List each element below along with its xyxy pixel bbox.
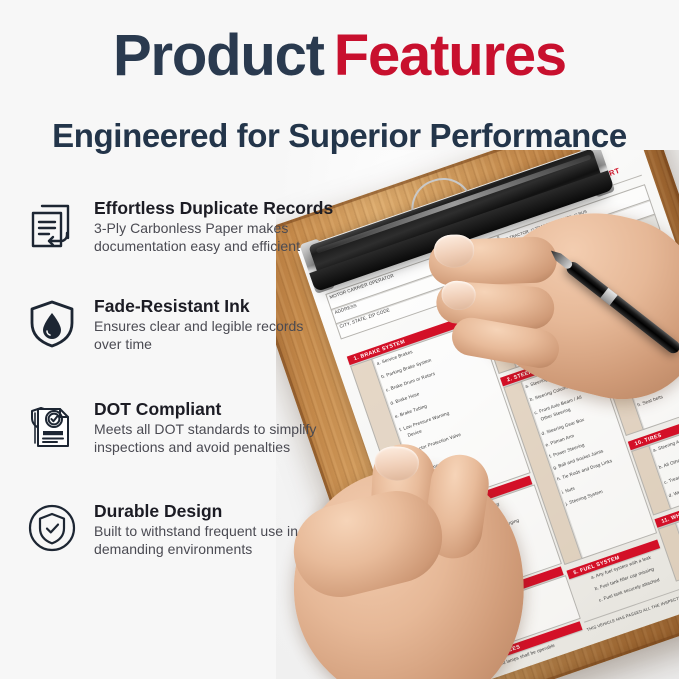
duplicate-documents-icon xyxy=(24,197,80,253)
feature-item-durable-design: Durable Design Built to withstand freque… xyxy=(24,500,326,558)
feature-body: 3-Ply Carbonless Paper makes documentati… xyxy=(94,220,326,256)
product-photo: BUCK U.S ANNUAL VEHICLE INSPECTION REPOR… xyxy=(276,150,679,679)
title-word-features: Features xyxy=(334,23,566,88)
feature-item-duplicate-records: Effortless Duplicate Records 3-Ply Carbo… xyxy=(24,197,333,255)
shield-check-circle-icon xyxy=(24,500,80,556)
feature-heading: Fade-Resistant Ink xyxy=(94,297,326,317)
page-subtitle: Engineered for Superior Performance xyxy=(0,117,679,155)
feature-text-fade-resistant-ink: Fade-Resistant Ink Ensures clear and leg… xyxy=(94,295,326,353)
feature-item-dot-compliant: DOT Compliant Meets all DOT standards to… xyxy=(24,398,326,456)
feature-item-fade-resistant-ink: Fade-Resistant Ink Ensures clear and leg… xyxy=(24,295,326,353)
feature-body: Built to withstand frequent use in deman… xyxy=(94,523,326,559)
shield-ink-drop-icon xyxy=(24,295,80,351)
feature-body: Meets all DOT standards to simplify insp… xyxy=(94,421,326,457)
wheels-ok-column xyxy=(658,522,679,581)
compliant-document-shield-icon xyxy=(24,398,80,454)
title-word-product: Product xyxy=(113,23,324,88)
page-title: ProductFeatures xyxy=(0,27,679,85)
feature-body: Ensures clear and legible records over t… xyxy=(94,318,326,354)
feature-heading: Durable Design xyxy=(94,502,326,522)
feature-text-durable-design: Durable Design Built to withstand freque… xyxy=(94,500,326,558)
feature-heading: DOT Compliant xyxy=(94,400,326,420)
feature-heading: Effortless Duplicate Records xyxy=(94,199,333,219)
feature-text-duplicate-records: Effortless Duplicate Records 3-Ply Carbo… xyxy=(94,197,333,255)
feature-text-dot-compliant: DOT Compliant Meets all DOT standards to… xyxy=(94,398,326,456)
infographic-canvas: BUCK U.S ANNUAL VEHICLE INSPECTION REPOR… xyxy=(0,0,679,679)
